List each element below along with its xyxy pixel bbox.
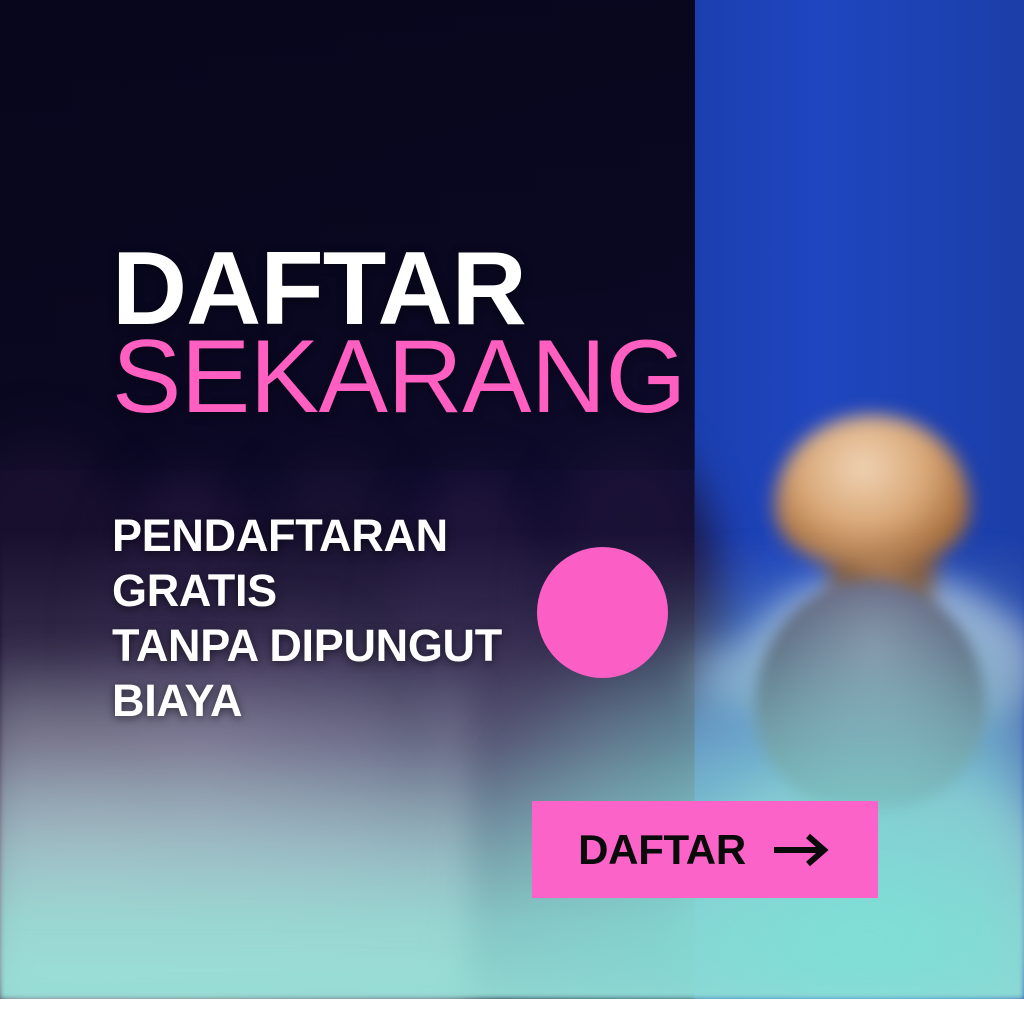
promo-banner: DAFTAR SEKARANG PENDAFTARAN GRATIS TANPA… [0, 0, 1024, 1024]
subheadline-line-2: GRATIS [112, 564, 502, 619]
subheadline-line-1: PENDAFTARAN [112, 509, 502, 564]
pink-circle-accent [537, 547, 668, 678]
subheadline: PENDAFTARAN GRATIS TANPA DIPUNGUT BIAYA [112, 509, 502, 729]
arrow-right-icon [772, 833, 832, 867]
headline-line-2: SEKARANG [112, 331, 686, 425]
headline: DAFTAR SEKARANG [112, 243, 686, 424]
register-cta-button[interactable]: DAFTAR [532, 801, 878, 898]
register-cta-label: DAFTAR [578, 826, 746, 874]
white-bottom-strip [0, 999, 1024, 1024]
subheadline-line-3: TANPA DIPUNGUT [112, 619, 502, 674]
subheadline-line-4: BIAYA [112, 674, 502, 729]
